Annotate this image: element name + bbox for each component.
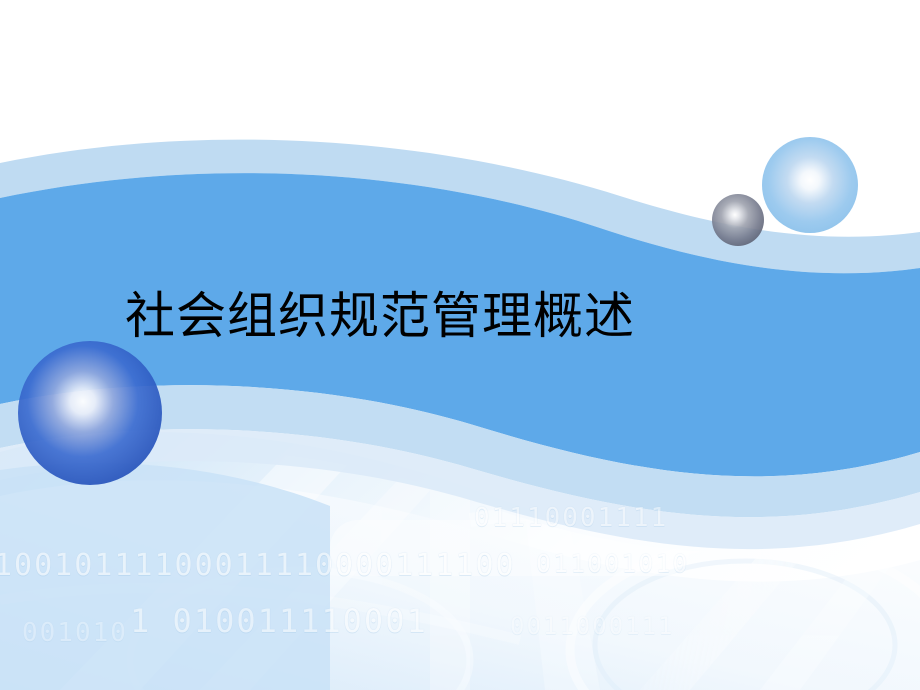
- binary-text-row: 011001010: [536, 549, 689, 578]
- binary-text-row: 1 010011110001: [130, 602, 428, 640]
- binary-texture-overlay: 100101111000111100001111001 010011110001…: [0, 0, 920, 690]
- binary-text-row: 001010: [22, 618, 128, 648]
- slide-title: 社会组织规范管理概述: [0, 289, 760, 344]
- binary-text-row: 0011000111: [510, 612, 675, 640]
- binary-text-row: 01110001111: [474, 503, 668, 533]
- slide-subtitle: [190, 350, 730, 351]
- presentation-slide: 100101111000111100001111001 010011110001…: [0, 0, 920, 690]
- binary-text-row: 10010111100011110000111100: [0, 548, 516, 583]
